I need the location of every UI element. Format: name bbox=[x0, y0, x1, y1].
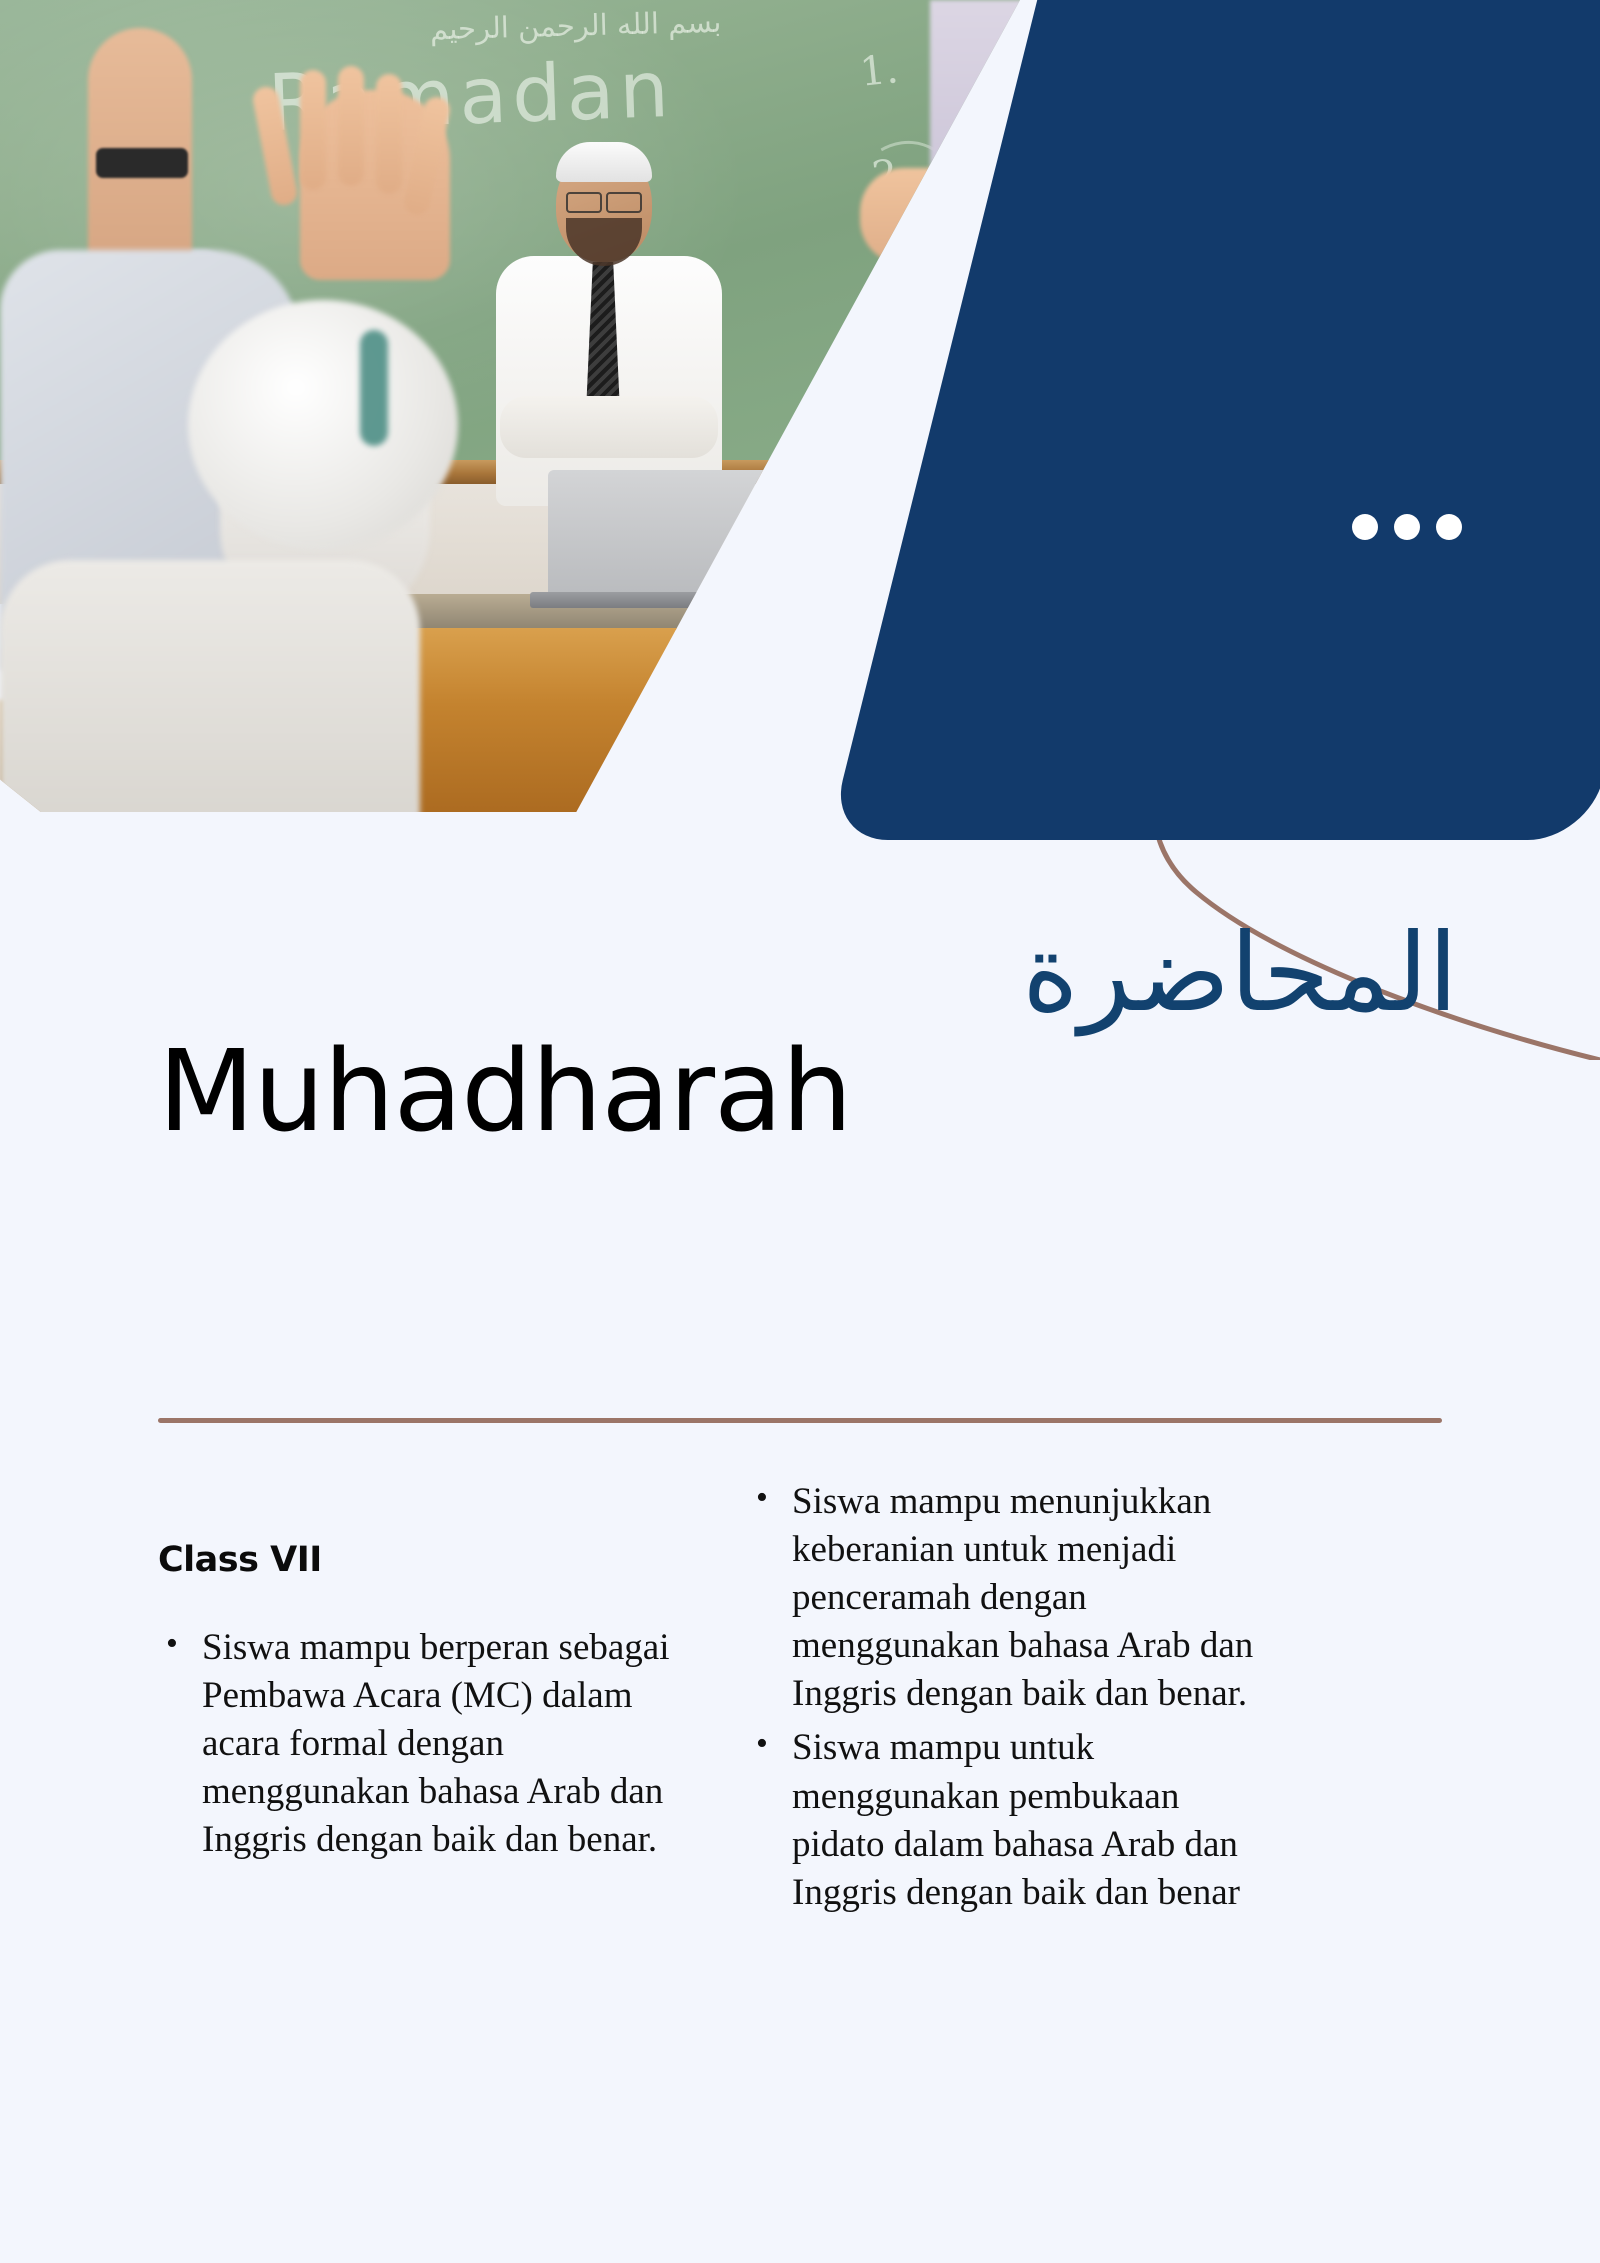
finger bbox=[338, 66, 364, 186]
list-item: Siswa mampu menunjukkan keberanian untuk… bbox=[748, 1478, 1278, 1718]
left-bullet-list: Siswa mampu berperan sebagai Pembawa Aca… bbox=[158, 1624, 688, 1864]
teacher-cap bbox=[556, 142, 652, 182]
laptop-base bbox=[530, 592, 816, 608]
finger bbox=[376, 74, 402, 194]
finger bbox=[300, 70, 326, 190]
page-title: Muhadharah bbox=[158, 1034, 1458, 1152]
foreground-student-shoulder bbox=[0, 560, 420, 812]
right-column: Siswa mampu menunjukkan keberanian untuk… bbox=[748, 1478, 1278, 1923]
list-item: Siswa mampu untuk menggunakan pembukaan … bbox=[748, 1724, 1278, 1916]
hero-section: بسم الله الرحمن الرحيم Ramadan 1. 2. 3. … bbox=[0, 0, 1600, 880]
dot bbox=[1436, 514, 1462, 540]
pink-marker bbox=[742, 722, 764, 804]
chalkboard-number-1: 1. bbox=[858, 46, 901, 96]
foreground-student-cap-stripe bbox=[360, 330, 388, 446]
dot bbox=[1394, 514, 1420, 540]
right-bullet-list: Siswa mampu menunjukkan keberanian untuk… bbox=[748, 1478, 1278, 1917]
page-title-arabic: المحاضرة bbox=[158, 920, 1458, 1028]
list-item: Siswa mampu berperan sebagai Pembawa Aca… bbox=[158, 1624, 688, 1864]
left-column: Class VII Siswa mampu berperan sebagai P… bbox=[158, 1478, 688, 1923]
content-columns: Class VII Siswa mampu berperan sebagai P… bbox=[158, 1478, 1450, 1923]
wristwatch bbox=[96, 148, 188, 178]
teacher-glasses-right bbox=[606, 192, 642, 213]
foreground-student-cap bbox=[188, 300, 458, 550]
student-hand-right bbox=[860, 168, 980, 264]
section-divider bbox=[158, 1418, 1442, 1423]
three-dots-icon bbox=[1352, 514, 1462, 540]
dot bbox=[1352, 514, 1378, 540]
class-heading: Class VII bbox=[158, 1540, 688, 1580]
teacher-folded-arms bbox=[500, 396, 718, 458]
teacher-glasses-left bbox=[566, 192, 602, 213]
laptop-screen bbox=[548, 470, 798, 598]
chalkboard-number-4: 4. bbox=[878, 346, 921, 396]
title-block: المحاضرة Muhadharah bbox=[158, 920, 1458, 1152]
